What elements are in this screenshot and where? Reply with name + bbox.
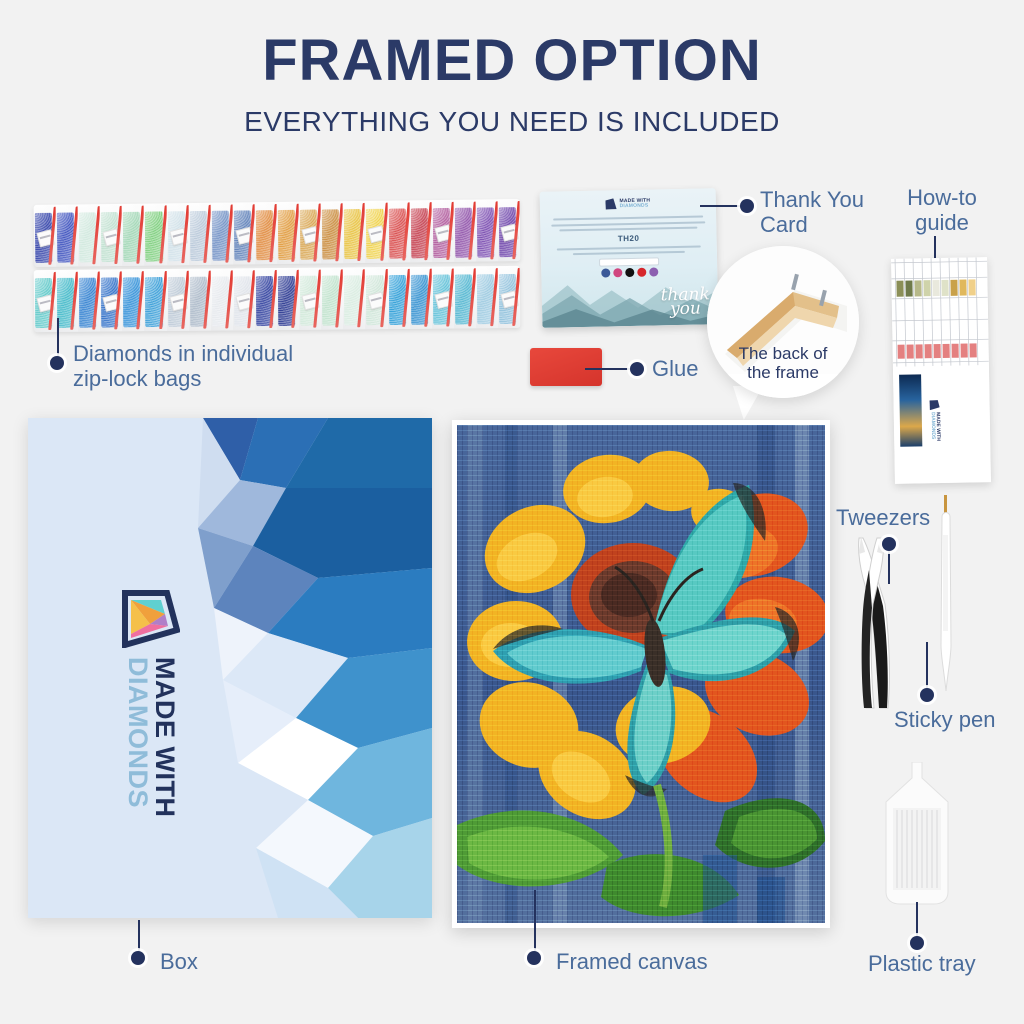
bag-plastic-sheen [476, 266, 499, 328]
zip-lock-bag [56, 270, 79, 332]
bag-plastic-sheen [144, 203, 167, 265]
zip-lock-bag [321, 201, 344, 263]
glue-pad [530, 348, 602, 386]
bubble-caption-line1: The back of [707, 344, 859, 363]
zip-lock-bag [299, 201, 322, 263]
zip-lock-bag [299, 268, 322, 330]
leader-dot-box [131, 951, 145, 965]
box-low-poly-pattern [28, 418, 432, 918]
bag-plastic-sheen [144, 269, 167, 331]
callout-glue-line1: Glue [652, 357, 698, 382]
leader-dot-canvas [527, 951, 541, 965]
zip-lock-bag [498, 199, 521, 261]
callout-label-glue: Glue [652, 357, 698, 382]
zip-lock-bag [210, 203, 233, 265]
zip-lock-bag [431, 266, 454, 328]
zip-lock-bag [343, 267, 366, 329]
leader-dot-diamonds [50, 356, 64, 370]
bag-plastic-sheen [431, 266, 454, 328]
callout-tweezers-line1: Tweezers [836, 506, 930, 531]
zip-lock-bag [409, 267, 432, 329]
leader-line-tweezers [888, 548, 890, 584]
thank-you-card: MADE WITH DIAMONDS TH20 thank you [540, 188, 719, 328]
callout-diamonds-line2: zip-lock bags [73, 367, 293, 392]
card-brand-logo: MADE WITH DIAMONDS [605, 198, 650, 210]
bag-plastic-sheen [409, 267, 432, 329]
bag-plastic-sheen [431, 200, 454, 262]
bag-plastic-sheen [78, 270, 101, 332]
callout-label-thank-you: Thank You Card [760, 188, 864, 237]
bag-plastic-sheen [210, 203, 233, 265]
guide-brand-logo: MADE WITH DIAMONDS [930, 400, 941, 441]
callout-pen-line1: Sticky pen [894, 708, 996, 733]
callout-label-box: Box [160, 950, 198, 975]
callout-label-tweezers: Tweezers [836, 506, 930, 531]
instagram-icon [613, 268, 622, 277]
bag-plastic-sheen [166, 203, 189, 265]
callout-label-pen: Sticky pen [894, 708, 996, 733]
zip-lock-bag [498, 266, 521, 328]
callout-label-tray: Plastic tray [868, 952, 976, 977]
bag-plastic-sheen [498, 266, 521, 328]
bag-plastic-sheen [454, 266, 477, 328]
bag-plastic-sheen [387, 200, 410, 262]
bag-plastic-sheen [100, 269, 123, 331]
bag-plastic-sheen [122, 204, 145, 266]
box-brand-logo: MADE WITH DIAMONDS [122, 590, 180, 817]
bag-plastic-sheen [498, 199, 521, 261]
zip-lock-bag [78, 270, 101, 332]
bag-plastic-sheen [188, 269, 211, 331]
zip-lock-bag [277, 202, 300, 264]
bag-plastic-sheen [166, 269, 189, 331]
canvas-artwork [457, 425, 825, 923]
bag-plastic-sheen [343, 267, 366, 329]
tiktok-icon [625, 268, 634, 277]
guide-brand-panel: MADE WITH DIAMONDS [893, 365, 991, 484]
bag-plastic-sheen [188, 203, 211, 265]
leader-dot-thank-you [740, 199, 754, 213]
leader-dot-tray [910, 936, 924, 950]
diamond-grid-texture [457, 425, 825, 923]
card-promo-code: TH20 [551, 233, 707, 245]
callout-label-canvas: Framed canvas [556, 950, 708, 975]
pinterest-icon [637, 268, 646, 277]
zip-lock-bag [122, 204, 145, 266]
leader-dot-tweezers [882, 537, 896, 551]
zip-lock-bag [387, 267, 410, 329]
bag-plastic-sheen [34, 205, 57, 267]
bag-plastic-sheen [365, 267, 388, 329]
box-brand-line1: MADE WITH [151, 657, 178, 817]
bag-plastic-sheen [387, 267, 410, 329]
guide-table-grid [891, 257, 989, 367]
bag-plastic-sheen [277, 202, 300, 264]
zip-lock-bag [210, 268, 233, 330]
callout-thank-you-line1: Thank You [760, 188, 864, 213]
zip-lock-bag [409, 200, 432, 262]
bag-plastic-sheen [453, 200, 476, 262]
bubble-caption-line2: the frame [707, 363, 859, 382]
zip-lock-bag [255, 202, 278, 264]
page-subtitle: EVERYTHING YOU NEED IS INCLUDED [0, 106, 1024, 138]
zip-lock-bag [365, 201, 388, 263]
zip-lock-bag [475, 199, 498, 261]
zip-lock-bag [476, 266, 499, 328]
sticky-pen-illustration [936, 495, 956, 695]
card-message-body: TH20 [550, 212, 707, 278]
bag-plastic-sheen [321, 201, 344, 263]
zip-lock-bag [166, 203, 189, 265]
infographic-canvas: FRAMED OPTION EVERYTHING YOU NEED IS INC… [0, 0, 1024, 1024]
bag-plastic-sheen [277, 268, 300, 330]
zip-lock-bag [232, 202, 255, 264]
zip-lock-bag-row-1 [34, 199, 521, 267]
zip-lock-bag [56, 204, 79, 266]
diamond-logo-icon [122, 590, 180, 648]
leader-line-canvas [534, 890, 536, 956]
box-brand-line2: DIAMONDS [124, 657, 151, 817]
callout-how-to-line2: guide [894, 211, 990, 236]
framed-canvas [452, 420, 830, 928]
youtube-icon [649, 267, 658, 276]
bag-plastic-sheen [321, 267, 344, 329]
bag-plastic-sheen [78, 204, 101, 266]
leader-line-thank-you [700, 205, 744, 207]
bag-plastic-sheen [299, 201, 322, 263]
diamond-logo-icon [930, 400, 940, 410]
zip-lock-bag [122, 269, 145, 331]
zip-lock-bag [34, 205, 57, 267]
bag-plastic-sheen [210, 268, 233, 330]
zip-lock-bag [321, 267, 344, 329]
callout-diamonds-line1: Diamonds in individual [73, 342, 293, 367]
zip-lock-bag [431, 200, 454, 262]
guide-brand-line2: DIAMONDS [930, 412, 936, 441]
zip-lock-bag [453, 200, 476, 262]
leader-line-pen [926, 642, 928, 692]
zip-lock-bag [100, 269, 123, 331]
zip-lock-bag [454, 266, 477, 328]
callout-label-how-to: How-to guide [894, 186, 990, 235]
zip-lock-bag [144, 203, 167, 265]
guide-artwork-thumbnail [899, 374, 922, 446]
leader-dot-pen [920, 688, 934, 702]
zip-lock-bag [166, 269, 189, 331]
zip-lock-bag [387, 200, 410, 262]
callout-thank-you-line2: Card [760, 213, 864, 238]
card-brand-line2: DIAMONDS [620, 203, 651, 209]
callout-box-line1: Box [160, 950, 198, 975]
bag-plastic-sheen [255, 268, 278, 330]
bag-plastic-sheen [122, 269, 145, 331]
frame-back-bubble: The back of the frame [707, 246, 859, 398]
bag-plastic-sheen [56, 270, 79, 332]
zip-lock-bag [255, 268, 278, 330]
bag-plastic-sheen [56, 204, 79, 266]
bag-plastic-sheen [409, 200, 432, 262]
callout-label-diamonds: Diamonds in individual zip-lock bags [73, 342, 293, 391]
bag-plastic-sheen [34, 270, 57, 332]
facebook-icon [601, 268, 610, 277]
bubble-caption: The back of the frame [707, 344, 859, 382]
bag-plastic-sheen [255, 202, 278, 264]
zip-lock-bag [365, 267, 388, 329]
bag-plastic-sheen [299, 268, 322, 330]
bag-plastic-sheen [232, 202, 255, 264]
product-box: MADE WITH DIAMONDS [28, 418, 432, 918]
zip-lock-bag [100, 204, 123, 266]
callout-how-to-line1: How-to [894, 186, 990, 211]
how-to-guide-sheet: MADE WITH DIAMONDS [891, 257, 991, 484]
bag-plastic-sheen [100, 204, 123, 266]
diamond-logo-icon [605, 198, 616, 209]
zip-lock-bag-row-2 [34, 266, 521, 332]
callout-tray-line1: Plastic tray [868, 952, 976, 977]
leader-line-glue [585, 368, 635, 370]
page-title: FRAMED OPTION [0, 32, 1024, 90]
callout-canvas-line1: Framed canvas [556, 950, 708, 975]
guide-color-table [891, 257, 989, 367]
zip-lock-bag [343, 201, 366, 263]
zip-lock-bag [188, 203, 211, 265]
plastic-tray [878, 762, 956, 907]
tweezers-tool [855, 530, 897, 710]
zip-lock-bag [277, 268, 300, 330]
tweezers-illustration [855, 530, 897, 710]
sticky-pen-tool [936, 495, 956, 695]
leader-dot-glue [630, 362, 644, 376]
plastic-tray-illustration [878, 762, 956, 907]
zip-lock-bag [78, 204, 101, 266]
bag-plastic-sheen [233, 268, 256, 330]
zip-lock-bag [144, 269, 167, 331]
card-thank-you-script: thank you [660, 288, 710, 317]
zip-lock-bag [188, 269, 211, 331]
zip-lock-bag [233, 268, 256, 330]
zip-lock-bag [34, 270, 57, 332]
bag-plastic-sheen [475, 199, 498, 261]
card-url-bar [599, 257, 659, 266]
bag-plastic-sheen [343, 201, 366, 263]
bag-plastic-sheen [365, 201, 388, 263]
